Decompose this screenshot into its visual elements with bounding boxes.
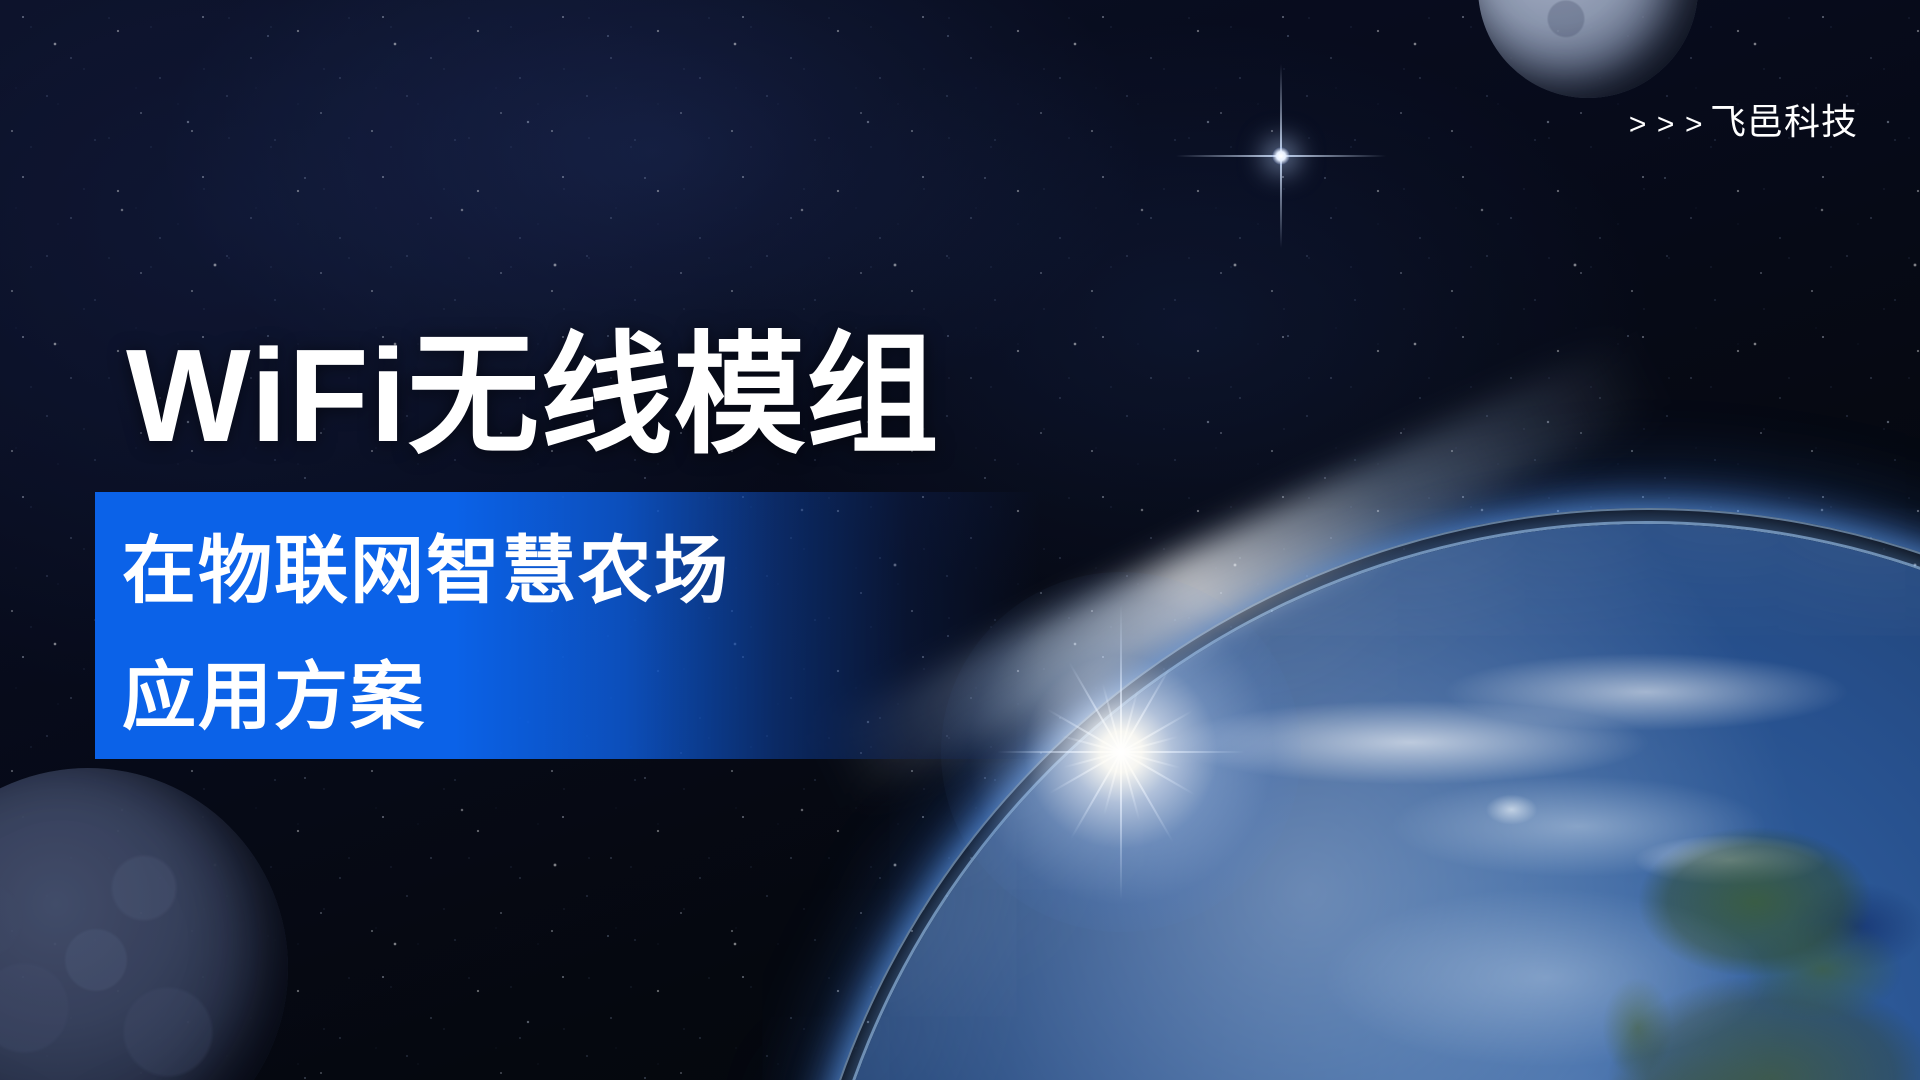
hero-banner: > > > 飞邑科技 WiFi无线模组 在物联网智慧农场 应用方案: [0, 0, 1920, 1080]
page-title: WiFi无线模组: [126, 330, 939, 462]
brand-name: 飞邑科技: [1710, 104, 1858, 140]
chevron-right-icon: >: [1629, 110, 1647, 140]
subtitle-line-1: 在物联网智慧农场: [122, 508, 1022, 634]
subtitle-text-group: 在物联网智慧农场 应用方案: [122, 508, 1022, 760]
subtitle-line-2: 应用方案: [122, 634, 1022, 760]
chevron-right-icon: >: [1685, 110, 1703, 140]
brand-logo: > > > 飞邑科技: [1629, 104, 1858, 140]
chevron-right-icon: >: [1657, 110, 1675, 140]
